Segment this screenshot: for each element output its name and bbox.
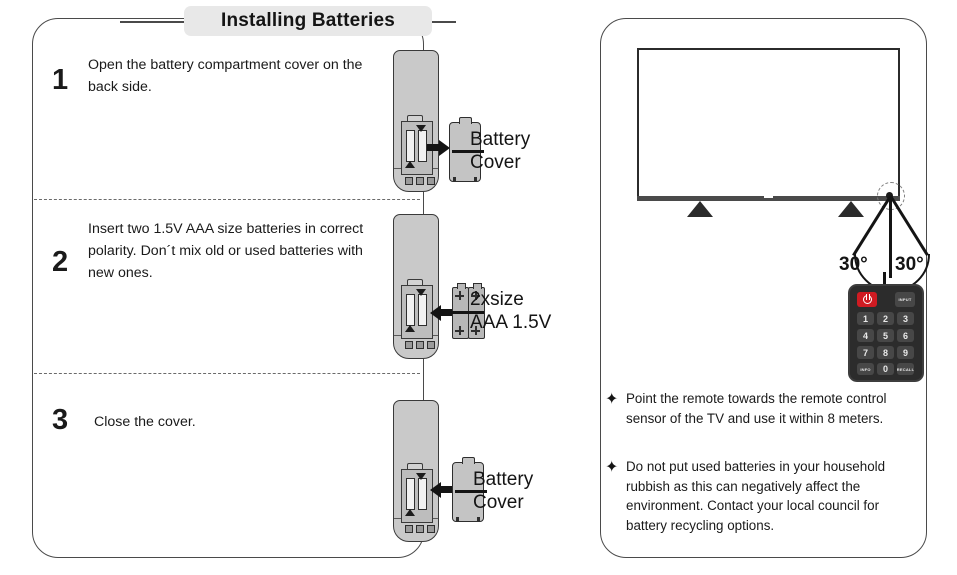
info-button[interactable]: INFO bbox=[857, 363, 874, 375]
step-2-text: Insert two 1.5V AAA size batteries in co… bbox=[88, 218, 373, 284]
power-button[interactable] bbox=[857, 292, 877, 307]
star-bullet-icon: ✦ bbox=[605, 458, 618, 478]
callout-line-2: Cover bbox=[470, 151, 530, 174]
angle-label-right: 30° bbox=[895, 254, 924, 276]
battery-plus-icon bbox=[455, 326, 464, 335]
contact-pad bbox=[416, 341, 424, 349]
remote-control-illustration: INPUT 1 2 3 4 5 6 7 8 9 INFO 0 RECALL bbox=[848, 284, 924, 382]
section-title: Installing Batteries bbox=[184, 6, 432, 36]
step-1-number: 1 bbox=[52, 64, 68, 97]
contact-pad bbox=[405, 525, 413, 533]
callout-line-2: Cover bbox=[473, 491, 533, 514]
polarity-marker-up bbox=[405, 325, 415, 332]
remote-back-illustration-step2 bbox=[393, 214, 439, 359]
note-item-1: ✦ Point the remote towards the remote co… bbox=[626, 389, 918, 428]
step-divider-2 bbox=[34, 373, 420, 374]
arrow-head bbox=[430, 482, 441, 498]
step-2-number: 2 bbox=[52, 246, 68, 279]
callout-line-2: AAA 1.5V bbox=[470, 311, 551, 334]
key-1[interactable]: 1 bbox=[857, 312, 874, 325]
battery-cap bbox=[457, 283, 466, 289]
key-5[interactable]: 5 bbox=[877, 329, 894, 342]
step-divider-1 bbox=[34, 199, 420, 200]
key-6[interactable]: 6 bbox=[897, 329, 914, 342]
key-3[interactable]: 3 bbox=[897, 312, 914, 325]
key-4[interactable]: 4 bbox=[857, 329, 874, 342]
cover-nub bbox=[459, 117, 472, 124]
battery-slot-2 bbox=[418, 478, 427, 510]
key-7[interactable]: 7 bbox=[857, 346, 874, 359]
remote-back-illustration-step1 bbox=[393, 50, 439, 192]
polarity-marker-up bbox=[405, 509, 415, 516]
battery-slot-1 bbox=[406, 130, 415, 162]
section-title-text: Installing Batteries bbox=[221, 10, 395, 32]
remote-angle-diagram: 30° 30° bbox=[826, 196, 954, 286]
step-3-text: Close the cover. bbox=[94, 411, 374, 433]
angle-label-left: 30° bbox=[839, 254, 868, 276]
polarity-marker-down bbox=[416, 289, 426, 296]
remote-contacts bbox=[405, 177, 435, 185]
angle-ray-left bbox=[852, 195, 891, 256]
note-1-text: Point the remote towards the remote cont… bbox=[626, 391, 887, 426]
contact-pad bbox=[427, 177, 435, 185]
contact-pad bbox=[416, 177, 424, 185]
callout-line-1: Battery bbox=[473, 468, 533, 491]
callout-line-1: 2xsize bbox=[470, 288, 551, 311]
contact-pad bbox=[405, 341, 413, 349]
cover-foot bbox=[474, 177, 477, 182]
key-8[interactable]: 8 bbox=[877, 346, 894, 359]
cover-nub bbox=[462, 457, 475, 464]
callout-batteries-step2: 2xsize AAA 1.5V bbox=[470, 288, 551, 334]
battery-plus-icon bbox=[455, 291, 464, 300]
key-2[interactable]: 2 bbox=[877, 312, 894, 325]
battery-slot-1 bbox=[406, 294, 415, 326]
callout-battery-cover-step1: Battery Cover bbox=[470, 128, 530, 174]
cover-foot bbox=[453, 177, 456, 182]
tv-illustration bbox=[637, 48, 900, 198]
remote-back-illustration-step3 bbox=[393, 400, 439, 542]
direction-arrow-in-step2 bbox=[429, 305, 453, 321]
callout-line-1: Battery bbox=[470, 128, 530, 151]
title-rule-left bbox=[120, 21, 190, 23]
recall-button[interactable]: RECALL bbox=[897, 363, 914, 375]
note-2-text: Do not put used batteries in your househ… bbox=[626, 459, 885, 533]
tv-stand-foot-left bbox=[687, 201, 713, 217]
power-icon bbox=[863, 295, 872, 304]
remote-contacts bbox=[405, 525, 435, 533]
direction-arrow-out-step1 bbox=[427, 140, 451, 156]
note-item-2: ✦ Do not put used batteries in your hous… bbox=[626, 457, 918, 535]
tv-logo-mark bbox=[764, 195, 773, 198]
contact-pad bbox=[416, 525, 424, 533]
polarity-marker-up bbox=[405, 161, 415, 168]
polarity-marker-down bbox=[416, 473, 426, 480]
contact-pad bbox=[405, 177, 413, 185]
callout-battery-cover-step3: Battery Cover bbox=[473, 468, 533, 514]
battery-slot-1 bbox=[406, 478, 415, 510]
cover-foot bbox=[456, 517, 459, 522]
direction-arrow-in-step3 bbox=[429, 482, 453, 498]
step-3-number: 3 bbox=[52, 404, 68, 437]
key-0[interactable]: 0 bbox=[877, 363, 894, 375]
angle-ray-right bbox=[889, 195, 928, 256]
star-bullet-icon: ✦ bbox=[605, 390, 618, 410]
polarity-marker-down bbox=[416, 125, 426, 132]
arrow-head bbox=[430, 305, 441, 321]
contact-pad bbox=[427, 525, 435, 533]
key-9[interactable]: 9 bbox=[897, 346, 914, 359]
step-1-text: Open the battery compartment cover on th… bbox=[88, 54, 368, 98]
battery-slot-2 bbox=[418, 294, 427, 326]
remote-contacts bbox=[405, 341, 435, 349]
battery-slot-2 bbox=[418, 130, 427, 162]
input-button[interactable]: INPUT bbox=[895, 292, 915, 307]
cover-foot bbox=[477, 517, 480, 522]
installing-batteries-panel bbox=[32, 18, 424, 558]
contact-pad bbox=[427, 341, 435, 349]
